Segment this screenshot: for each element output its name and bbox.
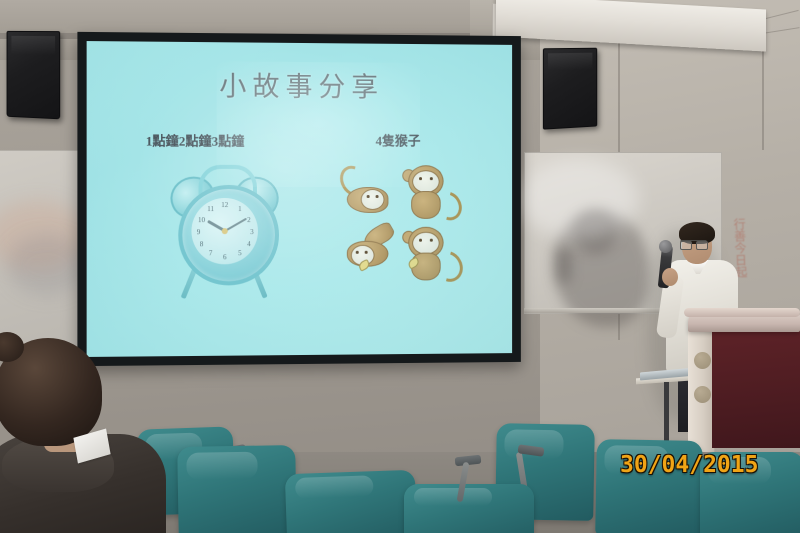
speaker-sheen	[11, 36, 55, 55]
monkey-eye	[419, 239, 421, 241]
clock-numeral: 5	[235, 249, 245, 257]
microphone-head	[659, 240, 672, 253]
podium-front-panel	[712, 330, 800, 448]
clock-face: 12 1 2 3 4 5 6 7 8 9 10 11	[191, 198, 258, 264]
slide-surface: 小故事分享 1點鐘2點鐘3點鐘 4隻猴子 12 1 2 3 4 5	[87, 41, 512, 357]
right-wall-speaker	[543, 48, 597, 130]
whiteboard-glare	[7, 235, 87, 295]
monkey-face	[412, 170, 440, 193]
whiteboard-glare	[0, 201, 87, 271]
clock-numeral: 8	[196, 240, 206, 248]
clock-numeral: 7	[206, 249, 216, 257]
chair	[404, 484, 534, 533]
monkey-eye	[365, 251, 367, 253]
chair	[177, 445, 297, 533]
clock-numeral: 4	[244, 240, 254, 248]
monkey-eye	[356, 251, 358, 253]
monkey-bottom-left	[343, 225, 398, 283]
clock-numeral: 11	[206, 205, 216, 213]
chair-sheen	[414, 488, 492, 506]
four-monkeys-illustration	[339, 161, 465, 291]
monkey-top-left	[339, 165, 395, 223]
camera-date-stamp: 30/04/2015	[620, 452, 758, 478]
monkey-face	[361, 189, 385, 210]
podium-decor-circle	[694, 386, 711, 403]
slide-label-clock: 1點鐘2點鐘3點鐘	[146, 130, 245, 149]
clock-numeral: 3	[247, 228, 257, 236]
presenter-shadow-mic	[557, 249, 571, 283]
podium-side-panel	[688, 330, 715, 452]
clock-numeral: 9	[193, 228, 203, 236]
glasses-lens-right	[696, 241, 708, 250]
clock-numeral: 12	[220, 201, 230, 209]
lecture-hall-photo: ●●●●● 行善今日起 小故事分享 1點鐘2點鐘3點鐘 4隻猴子	[0, 0, 800, 533]
glasses-icon	[680, 240, 707, 248]
monkey-eye	[376, 195, 378, 197]
podium-decor-circle	[694, 352, 711, 369]
clock-numeral: 6	[220, 253, 230, 261]
monkey-face	[412, 232, 440, 255]
clock-numeral: 10	[196, 216, 206, 224]
podium-rail	[684, 308, 800, 317]
monkey-eye	[430, 177, 432, 179]
audience-member	[0, 338, 166, 533]
projection-screen: 小故事分享 1點鐘2點鐘3點鐘 4隻猴子 12 1 2 3 4 5	[77, 32, 520, 366]
monkey-top-right	[400, 161, 455, 219]
chair-sheen	[187, 451, 258, 480]
chair	[285, 470, 417, 533]
slide-title: 小故事分享	[87, 63, 512, 105]
monkey-eye	[419, 177, 421, 179]
monkey-eye	[367, 195, 369, 197]
presenter-hand	[662, 268, 678, 286]
slide-label-monkey: 4隻猴子	[376, 130, 421, 149]
clock-center-pin	[222, 228, 228, 234]
monkey-bottom-right	[400, 223, 455, 281]
alarm-clock-illustration: 12 1 2 3 4 5 6 7 8 9 10 11	[164, 165, 283, 301]
monkey-eye	[430, 239, 432, 241]
glasses-lens-left	[680, 241, 692, 250]
left-wall-speaker	[7, 31, 61, 119]
chair-sheen	[295, 475, 374, 499]
clock-numeral: 1	[235, 205, 245, 213]
clock-body: 12 1 2 3 4 5 6 7 8 9 10 11	[178, 185, 279, 286]
presenter-shadow-head	[573, 209, 617, 253]
ceiling-strip	[0, 0, 470, 34]
speaker-sheen	[548, 53, 592, 71]
